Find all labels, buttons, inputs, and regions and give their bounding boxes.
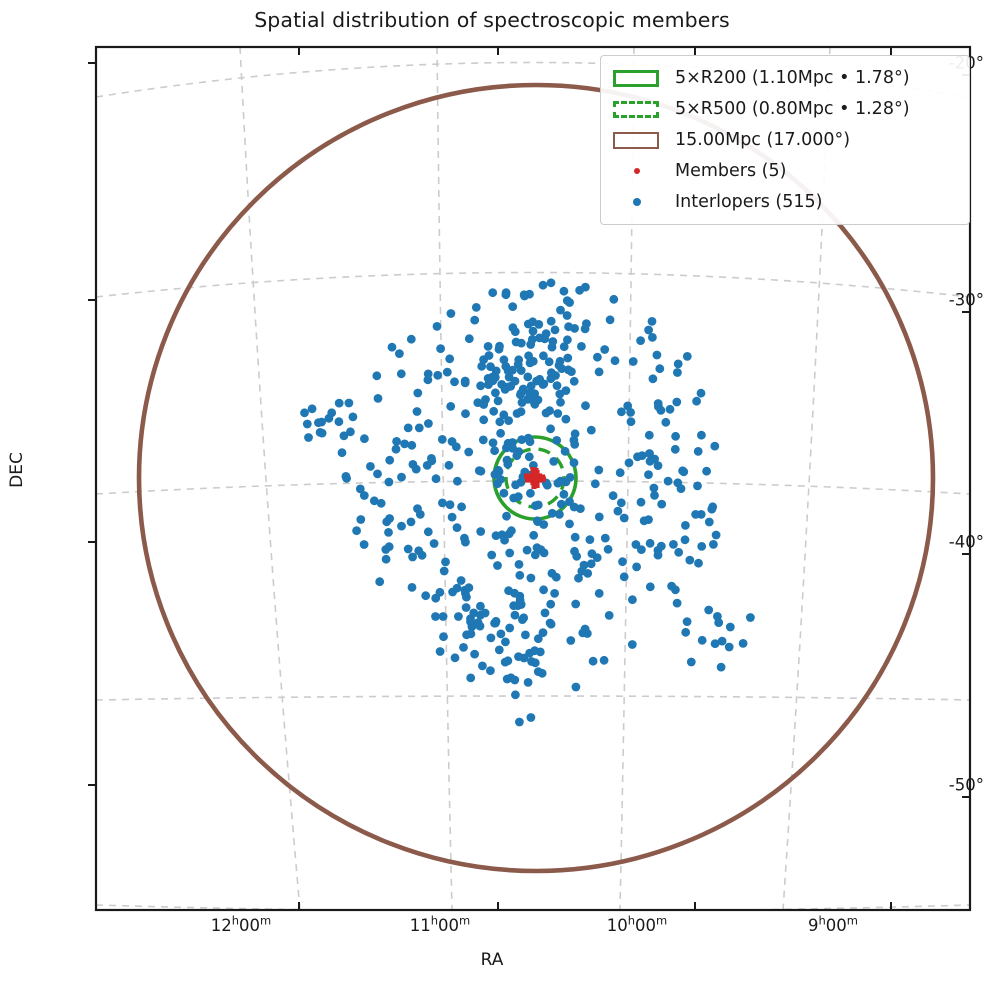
interloper-point <box>517 339 526 348</box>
interloper-point <box>441 558 450 567</box>
legend-item-label: Interlopers (515) <box>675 192 822 212</box>
interloper-point <box>385 456 394 465</box>
interloper-point <box>374 394 383 403</box>
interloper-point <box>601 534 610 543</box>
interloper-point <box>551 326 560 335</box>
interloper-point <box>646 582 655 591</box>
interloper-point <box>600 345 609 354</box>
interloper-point <box>565 497 574 506</box>
interloper-point <box>489 438 498 447</box>
interloper-point <box>507 673 516 682</box>
interloper-point <box>671 585 680 594</box>
interloper-point <box>342 472 351 481</box>
interloper-point <box>620 572 629 581</box>
interloper-point <box>581 325 590 334</box>
interloper-point <box>681 521 690 530</box>
interloper-point <box>570 458 579 467</box>
interloper-point <box>548 569 557 578</box>
interloper-point <box>503 456 512 465</box>
interloper-point <box>534 396 543 405</box>
interloper-point <box>697 431 706 440</box>
interloper-point <box>698 636 707 645</box>
interloper-point <box>511 611 520 620</box>
interloper-point <box>583 569 592 578</box>
interloper-point <box>524 678 533 687</box>
interloper-point <box>485 351 494 360</box>
interloper-point <box>653 351 662 360</box>
legend-item-1[interactable]: 5×R500 (0.80Mpc • 1.28°) <box>609 93 961 124</box>
interloper-point <box>638 451 647 460</box>
interloper-point <box>526 359 535 368</box>
legend-item-label: 15.00Mpc (17.000°) <box>675 130 850 150</box>
interloper-point <box>408 553 417 562</box>
interloper-point <box>397 369 406 378</box>
interloper-point <box>470 650 479 659</box>
legend-item-0[interactable]: 5×R200 (1.10Mpc • 1.78°) <box>609 62 961 93</box>
interloper-point <box>366 462 375 471</box>
legend-key-wrapper <box>609 66 665 90</box>
interloper-point <box>370 496 379 505</box>
interloper-point <box>649 374 658 383</box>
interloper-point <box>517 600 526 609</box>
interloper-point <box>438 499 447 508</box>
interloper-point <box>605 611 614 620</box>
interloper-point <box>505 549 514 558</box>
interloper-point <box>445 461 454 470</box>
interloper-point <box>739 639 748 648</box>
interloper-point <box>576 504 585 513</box>
interloper-point <box>524 434 533 443</box>
interloper-point <box>645 431 654 440</box>
legend-item-label: Members (5) <box>675 161 786 181</box>
interloper-point <box>505 529 514 538</box>
x-tick-label-0: 12h00m <box>211 916 272 935</box>
interloper-point <box>335 399 344 408</box>
interloper-point <box>511 690 520 699</box>
interloper-point <box>628 595 637 604</box>
interloper-point <box>491 373 500 382</box>
interloper-point <box>693 482 702 491</box>
interloper-point <box>472 303 481 312</box>
interloper-point <box>669 540 678 549</box>
interloper-point <box>476 381 485 390</box>
interloper-point <box>486 666 495 675</box>
interloper-point <box>448 437 457 446</box>
interloper-point <box>546 424 555 433</box>
interloper-point <box>527 574 536 583</box>
interloper-point <box>694 447 703 456</box>
interloper-point <box>595 368 604 377</box>
interloper-point <box>514 492 523 501</box>
interloper-point <box>545 357 554 366</box>
interloper-point <box>705 518 714 527</box>
interloper-point <box>468 622 477 631</box>
interloper-point <box>454 612 463 621</box>
interloper-point <box>382 555 391 564</box>
interloper-point <box>550 589 559 598</box>
interloper-point <box>609 295 618 304</box>
interloper-point <box>673 599 682 608</box>
x-tick-label-1: 11h00m <box>410 916 471 935</box>
interloper-point <box>560 490 569 499</box>
interloper-point <box>439 612 448 621</box>
interloper-point <box>502 290 511 299</box>
interloper-point <box>618 557 627 566</box>
interloper-point <box>574 574 583 583</box>
interloper-point <box>506 382 515 391</box>
interloper-point <box>451 653 460 662</box>
interloper-point <box>712 531 721 540</box>
interloper-point <box>497 630 506 639</box>
interloper-point <box>430 539 439 548</box>
interloper-point <box>392 437 401 446</box>
interloper-point <box>646 457 655 466</box>
interloper-point <box>527 713 536 722</box>
interloper-point <box>595 513 604 522</box>
interloper-point <box>673 368 682 377</box>
interloper-point <box>433 371 442 380</box>
interloper-point <box>520 290 529 299</box>
interloper-point <box>495 342 504 351</box>
interloper-point <box>664 477 673 486</box>
interloper-point <box>395 349 404 358</box>
interloper-point <box>704 606 713 615</box>
interloper-point <box>593 353 602 362</box>
interloper-point <box>529 531 538 540</box>
interloper-point <box>623 402 632 411</box>
interloper-point <box>385 542 394 551</box>
interloper-point <box>445 354 454 363</box>
interloper-point <box>549 457 558 466</box>
interloper-point <box>556 477 565 486</box>
interloper-point <box>523 546 532 555</box>
interloper-point <box>515 718 524 727</box>
legend-key-field-icon <box>613 132 659 149</box>
interloper-point <box>646 539 655 548</box>
interloper-point <box>373 470 382 479</box>
interloper-point <box>628 640 637 649</box>
y-tick-label-1: -30° <box>900 291 984 310</box>
legend-item-4[interactable]: Interlopers (515) <box>609 186 961 217</box>
x-tick-label-3: 9h00m <box>808 916 858 935</box>
interloper-point <box>654 399 663 408</box>
interloper-point <box>654 551 663 560</box>
interloper-point <box>335 417 344 426</box>
interloper-point <box>477 467 486 476</box>
interloper-point <box>413 504 422 513</box>
interloper-point <box>681 628 690 637</box>
interloper-point <box>671 432 680 441</box>
interloper-point <box>439 632 448 641</box>
interloper-point <box>360 434 369 443</box>
interloper-point <box>636 336 645 345</box>
interloper-point <box>495 417 504 426</box>
interloper-point <box>500 489 509 498</box>
interloper-point <box>304 433 313 442</box>
interloper-point <box>404 545 413 554</box>
interloper-point <box>563 296 572 305</box>
interloper-point <box>515 571 524 580</box>
interloper-point <box>509 323 518 332</box>
interloper-point <box>443 368 452 377</box>
interloper-point <box>436 588 445 597</box>
interloper-point <box>572 683 581 692</box>
interloper-point <box>528 335 537 344</box>
interloper-point <box>561 447 570 456</box>
interloper-point <box>709 540 718 549</box>
interloper-point <box>418 551 427 560</box>
y-tick-label-3: -50° <box>900 776 984 795</box>
interloper-point <box>495 646 504 655</box>
interloper-point <box>637 498 646 507</box>
interloper-point <box>534 667 543 676</box>
interloper-point <box>595 589 604 598</box>
interloper-point <box>570 440 579 449</box>
interloper-point <box>397 473 406 482</box>
interloper-point <box>440 567 449 576</box>
interloper-point <box>697 389 706 398</box>
legend-key-wrapper <box>609 128 665 152</box>
interloper-point <box>562 386 571 395</box>
interloper-point <box>661 418 670 427</box>
interloper-point <box>436 344 445 353</box>
x-axis-label: RA <box>0 950 984 970</box>
interloper-point <box>586 535 595 544</box>
interloper-point <box>484 380 493 389</box>
interloper-point <box>510 589 519 598</box>
interloper-point <box>542 409 551 418</box>
interloper-point <box>620 514 629 523</box>
interloper-point <box>486 362 495 371</box>
interloper-point <box>453 477 462 486</box>
interloper-point <box>593 553 602 562</box>
interloper-point <box>509 601 518 610</box>
interloper-point <box>476 622 485 631</box>
interloper-point <box>581 625 590 634</box>
interloper-point <box>681 535 690 544</box>
legend-key-r500-icon <box>613 101 659 118</box>
interloper-point <box>392 445 401 454</box>
interloper-point <box>650 491 659 500</box>
interloper-point <box>713 612 722 621</box>
interloper-point <box>388 343 397 352</box>
interloper-point <box>481 609 490 618</box>
interloper-point <box>534 501 543 510</box>
interloper-point <box>625 458 634 467</box>
interloper-point <box>692 397 701 406</box>
interloper-point <box>594 466 603 475</box>
interloper-point <box>400 440 409 449</box>
legend-key-wrapper <box>609 159 665 183</box>
interloper-point <box>464 448 473 457</box>
interloper-point <box>490 446 499 455</box>
interloper-point <box>627 417 636 426</box>
interloper-point <box>308 404 317 413</box>
interloper-point <box>494 397 503 406</box>
interloper-point <box>349 413 358 422</box>
interloper-point <box>461 538 470 547</box>
interloper-point <box>711 639 720 648</box>
interloper-point <box>470 316 479 325</box>
interloper-point <box>632 563 641 572</box>
interloper-point <box>511 481 520 490</box>
interloper-point <box>548 343 557 352</box>
interloper-point <box>413 407 422 416</box>
interloper-point <box>431 612 440 621</box>
interloper-point <box>502 512 511 521</box>
interloper-point <box>557 500 566 509</box>
interloper-point <box>546 600 555 609</box>
interloper-point <box>314 418 323 427</box>
interloper-point <box>571 429 580 438</box>
interloper-point <box>527 382 536 391</box>
interloper-point <box>521 631 530 640</box>
interloper-point <box>556 398 565 407</box>
interloper-point <box>539 628 548 637</box>
interloper-point <box>614 507 623 516</box>
interloper-point <box>462 630 471 639</box>
y-axis-label: DEC <box>7 410 27 530</box>
interloper-point <box>489 407 498 416</box>
interloper-point <box>375 577 384 586</box>
interloper-point <box>385 478 394 487</box>
interloper-point <box>553 381 562 390</box>
interloper-point <box>501 658 510 667</box>
interloper-point <box>566 473 575 482</box>
interloper-point <box>537 545 546 554</box>
interloper-point <box>648 333 657 342</box>
interloper-point <box>423 461 432 470</box>
interloper-point <box>479 436 488 445</box>
interloper-point <box>501 638 510 647</box>
interloper-point <box>513 409 522 418</box>
interloper-point <box>679 467 688 476</box>
interloper-point <box>611 356 620 365</box>
interloper-point <box>397 522 406 531</box>
interloper-point <box>547 620 556 629</box>
interloper-point <box>407 518 416 527</box>
interloper-point <box>542 329 551 338</box>
interloper-point <box>465 334 474 343</box>
interloper-point <box>384 528 393 537</box>
legend-key-interlopers-icon <box>633 198 641 206</box>
interloper-point <box>360 540 369 549</box>
interloper-point <box>340 431 349 440</box>
interloper-point <box>488 288 497 297</box>
interloper-point <box>457 576 466 585</box>
interloper-point <box>514 360 523 369</box>
interloper-point <box>526 489 535 498</box>
interloper-point <box>525 452 534 461</box>
interloper-point <box>609 491 618 500</box>
interloper-point <box>433 322 442 331</box>
interloper-point <box>717 663 726 672</box>
interloper-point <box>562 415 571 424</box>
interloper-point <box>575 286 584 295</box>
interloper-point <box>409 460 418 469</box>
interloper-point <box>487 634 496 643</box>
interloper-point <box>570 547 579 556</box>
interloper-point <box>360 491 369 500</box>
legend-key-wrapper <box>609 97 665 121</box>
interloper-point <box>407 335 416 344</box>
interloper-point <box>413 389 422 398</box>
figure-container: Spatial distribution of spectroscopic me… <box>0 0 984 986</box>
interloper-point <box>616 468 625 477</box>
interloper-point <box>461 379 470 388</box>
interloper-point <box>453 523 462 532</box>
interloper-point <box>577 342 586 351</box>
interloper-point <box>424 419 433 428</box>
interloper-point <box>492 617 501 626</box>
interloper-point <box>479 415 488 424</box>
interloper-point <box>549 371 558 380</box>
legend-box[interactable]: 5×R200 (1.10Mpc • 1.78°)5×R500 (0.80Mpc … <box>600 55 970 225</box>
legend-key-wrapper <box>609 190 665 214</box>
interloper-point <box>674 360 683 369</box>
interloper-point <box>505 624 514 633</box>
interloper-point <box>447 309 456 318</box>
interloper-point <box>466 674 475 683</box>
interloper-point <box>531 658 540 667</box>
interloper-point <box>674 548 683 557</box>
interloper-point <box>408 583 417 592</box>
interloper-point <box>327 408 336 417</box>
interloper-point <box>446 500 455 509</box>
interloper-point <box>478 662 487 671</box>
interloper-point <box>552 436 561 445</box>
interloper-point <box>707 505 716 514</box>
interloper-point <box>457 502 466 511</box>
interloper-point <box>710 442 719 451</box>
legend-item-2[interactable]: 15.00Mpc (17.000°) <box>609 124 961 155</box>
interloper-point <box>746 613 755 622</box>
legend-key-r200-icon <box>613 70 659 87</box>
legend-item-3[interactable]: Members (5) <box>609 155 961 186</box>
interloper-point <box>491 388 500 397</box>
interloper-point <box>687 658 696 667</box>
interloper-point <box>539 380 548 389</box>
interloper-point <box>547 278 556 287</box>
interloper-point <box>496 429 505 438</box>
interloper-point <box>528 317 537 326</box>
interloper-point <box>515 560 524 569</box>
interloper-point <box>436 647 445 656</box>
legend-item-label: 5×R500 (0.80Mpc • 1.28°) <box>675 99 910 119</box>
interloper-point <box>617 498 626 507</box>
interloper-point <box>303 420 312 429</box>
interloper-point <box>415 424 424 433</box>
interloper-point <box>404 424 413 433</box>
interloper-point <box>547 317 556 326</box>
interloper-point <box>672 398 681 407</box>
interloper-point <box>469 609 478 618</box>
interloper-point <box>372 371 381 380</box>
interloper-point <box>629 357 638 366</box>
interloper-point <box>450 377 459 386</box>
interloper-point <box>644 470 653 479</box>
interloper-point <box>448 513 457 522</box>
interloper-point <box>484 342 493 351</box>
interloper-point <box>508 444 517 453</box>
interloper-point <box>508 302 517 311</box>
interloper-point <box>539 585 548 594</box>
interloper-point <box>504 367 513 376</box>
interloper-point <box>555 510 564 519</box>
interloper-point <box>571 600 580 609</box>
interloper-point <box>640 516 649 525</box>
interloper-point <box>691 510 700 519</box>
